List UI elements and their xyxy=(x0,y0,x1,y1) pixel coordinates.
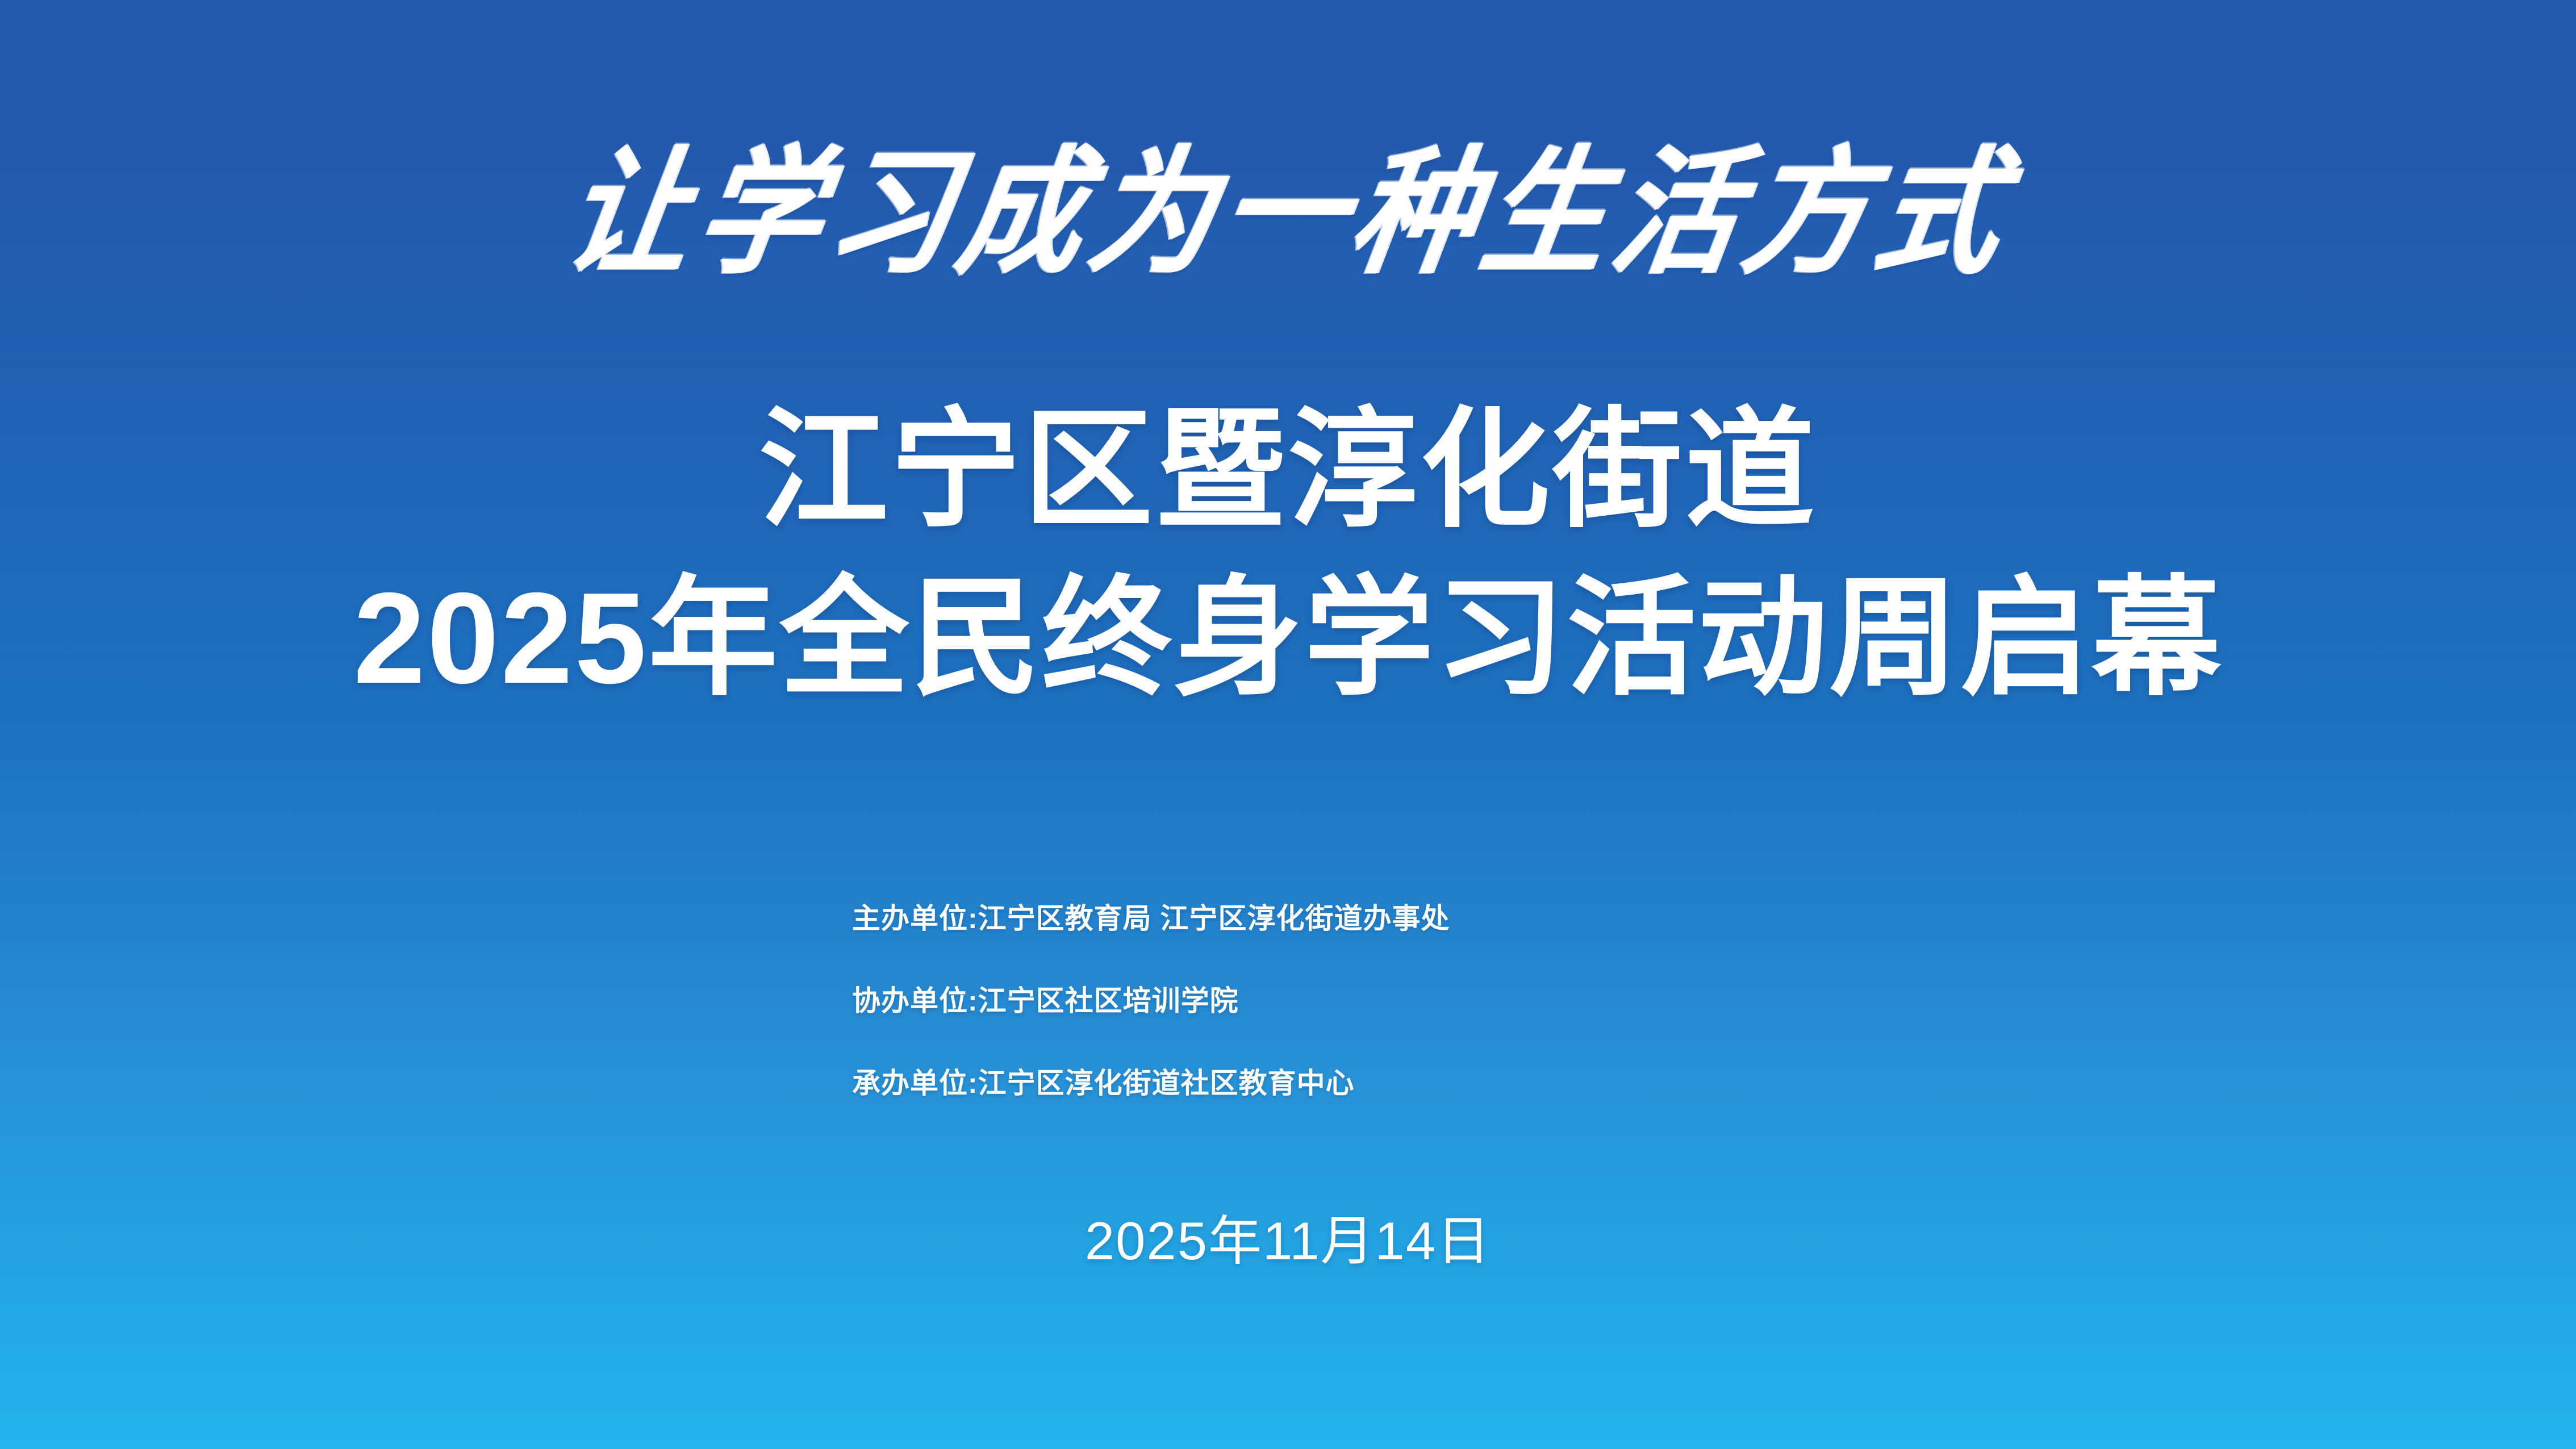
credit-line-host: 主办单位:江宁区教育局 江宁区淳化街道办事处 xyxy=(852,904,1450,933)
headline-line-1: 江宁区暨淳化街道 xyxy=(0,386,2576,554)
organizer-credits: 主办单位:江宁区教育局 江宁区淳化街道办事处 协办单位:江宁区社区培训学院 承办… xyxy=(852,904,1450,1097)
credit-line-co-host: 协办单位:江宁区社区培训学院 xyxy=(852,987,1450,1015)
headline-line-2: 2025年全民终身学习活动周启幕 xyxy=(0,554,2576,723)
poster-canvas: 让学习成为一种生活方式 江宁区暨淳化街道 2025年全民终身学习活动周启幕 主办… xyxy=(0,0,2576,1449)
page-title: 江宁区暨淳化街道 2025年全民终身学习活动周启幕 xyxy=(0,386,2576,723)
calligraphy-slogan: 让学习成为一种生活方式 xyxy=(0,144,2576,281)
event-date: 2025年11月14日 xyxy=(0,1214,2576,1268)
credit-line-organizer: 承办单位:江宁区淳化街道社区教育中心 xyxy=(852,1069,1450,1097)
